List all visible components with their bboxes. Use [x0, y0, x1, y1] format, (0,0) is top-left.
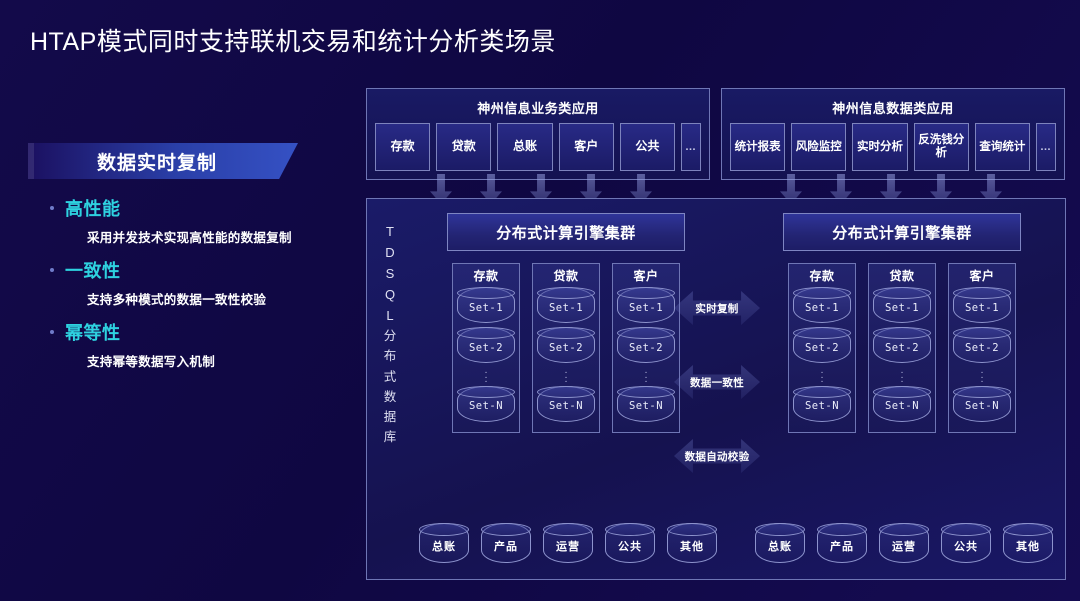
app-chip[interactable]: 公共	[620, 123, 675, 171]
feature-description: 采用并发技术实现高性能的数据复制	[87, 227, 358, 246]
tdsql-label-char: S	[377, 263, 403, 284]
set-cylinder[interactable]: Set-1	[617, 287, 675, 323]
cluster-right: 分布式计算引擎集群 存款 Set-1 Set-2 ... Set-N 贷款 Se…	[747, 213, 1057, 433]
bottom-cylinder[interactable]: 运营	[879, 523, 929, 563]
set-label: Set-1	[885, 302, 919, 314]
set-label: Set-N	[549, 400, 583, 412]
tdsql-label-char: D	[377, 242, 403, 263]
feature-title: 幂等性	[65, 319, 121, 345]
set-column-deposit: 存款 Set-1 Set-2 ... Set-N	[452, 263, 520, 433]
set-column-title: 客户	[969, 267, 994, 284]
feature-item-idempotency: 幂等性 支持幂等数据写入机制	[50, 319, 358, 370]
application-group-title: 神州信息业务类应用	[375, 94, 701, 123]
bottom-cylinder[interactable]: 公共	[605, 523, 655, 563]
set-column-customer: 客户 Set-1 Set-2 ... Set-N	[948, 263, 1016, 433]
app-chip[interactable]: 客户	[559, 123, 614, 171]
vertical-ellipsis: ...	[901, 369, 904, 383]
bottom-cylinder-label: 公共	[618, 538, 642, 554]
bottom-cylinder-label: 其他	[1016, 538, 1040, 554]
section-banner-title: 数据实时复制	[28, 148, 298, 175]
app-chip[interactable]: 统计报表	[730, 123, 785, 171]
set-label: Set-2	[885, 342, 919, 354]
application-group-business: 神州信息业务类应用 存款 贷款 总账 客户 公共 …	[366, 88, 710, 180]
tdsql-label-char: Q	[377, 284, 403, 305]
vertical-ellipsis: ...	[485, 369, 488, 383]
bottom-cylinder-label: 产品	[830, 538, 854, 554]
left-feature-panel: 数据实时复制 高性能 采用并发技术实现高性能的数据复制 一致性 支持多种模式的数…	[28, 143, 358, 381]
set-cylinder[interactable]: Set-2	[953, 327, 1011, 363]
app-chip[interactable]: 反洗钱分析	[914, 123, 969, 171]
set-label: Set-1	[805, 302, 839, 314]
set-column-title: 贷款	[553, 267, 578, 284]
set-label: Set-1	[629, 302, 663, 314]
set-label: Set-2	[965, 342, 999, 354]
app-chip[interactable]: 存款	[375, 123, 430, 171]
tdsql-vertical-label: T D S Q L 分 布 式 数 据 库	[377, 221, 403, 448]
app-chip[interactable]: 实时分析	[852, 123, 907, 171]
vertical-ellipsis: ...	[821, 369, 824, 383]
set-column-title: 存款	[473, 267, 498, 284]
application-chip-list: 存款 贷款 总账 客户 公共 …	[375, 123, 701, 171]
feature-title: 一致性	[65, 257, 121, 283]
feature-item-consistency: 一致性 支持多种模式的数据一致性校验	[50, 257, 358, 308]
section-banner: 数据实时复制	[28, 143, 298, 179]
app-chip[interactable]: 查询统计	[975, 123, 1030, 171]
set-column-loan: 贷款 Set-1 Set-2 ... Set-N	[532, 263, 600, 433]
page-title: HTAP模式同时支持联机交易和统计分析类场景	[30, 22, 556, 58]
bullet-dot-icon	[50, 330, 54, 334]
tdsql-label-char: T	[377, 221, 403, 242]
feature-item-performance: 高性能 采用并发技术实现高性能的数据复制	[50, 195, 358, 246]
set-cylinder[interactable]: Set-2	[793, 327, 851, 363]
vertical-ellipsis: ...	[981, 369, 984, 383]
bottom-cylinder[interactable]: 产品	[481, 523, 531, 563]
tdsql-label-char: L	[377, 305, 403, 326]
sync-arrow-auto-verification: 数据自动校验	[674, 439, 760, 473]
bottom-cylinder[interactable]: 公共	[941, 523, 991, 563]
feature-list: 高性能 采用并发技术实现高性能的数据复制 一致性 支持多种模式的数据一致性校验 …	[28, 195, 358, 370]
set-column-title: 客户	[633, 267, 658, 284]
set-label: Set-2	[549, 342, 583, 354]
app-chip[interactable]: 贷款	[436, 123, 491, 171]
application-group-title: 神州信息数据类应用	[730, 94, 1056, 123]
set-cylinder[interactable]: Set-1	[537, 287, 595, 323]
tdsql-label-char: 据	[377, 407, 403, 427]
set-cylinder[interactable]: Set-1	[953, 287, 1011, 323]
set-column-deposit: 存款 Set-1 Set-2 ... Set-N	[788, 263, 856, 433]
set-cylinder[interactable]: Set-2	[457, 327, 515, 363]
bottom-cylinder-row-left: 总账 产品 运营 公共 其他	[419, 523, 717, 563]
app-chip-more[interactable]: …	[681, 123, 701, 171]
set-label: Set-N	[965, 400, 999, 412]
set-cylinder[interactable]: Set-N	[953, 386, 1011, 422]
tdsql-panel: T D S Q L 分 布 式 数 据 库 分布式计算引擎集群 存款 Set-1…	[366, 198, 1066, 580]
bottom-cylinder-label: 产品	[494, 538, 518, 554]
set-cylinder[interactable]: Set-N	[537, 386, 595, 422]
set-cylinder[interactable]: Set-N	[793, 386, 851, 422]
bottom-cylinder[interactable]: 产品	[817, 523, 867, 563]
bottom-cylinder[interactable]: 其他	[1003, 523, 1053, 563]
set-label: Set-N	[629, 400, 663, 412]
bottom-cylinder[interactable]: 总账	[419, 523, 469, 563]
set-cylinder[interactable]: Set-1	[457, 287, 515, 323]
application-groups: 神州信息业务类应用 存款 贷款 总账 客户 公共 … 神州信息数据类应用 统计报…	[366, 88, 1066, 180]
set-column-loan: 贷款 Set-1 Set-2 ... Set-N	[868, 263, 936, 433]
bottom-cylinder[interactable]: 总账	[755, 523, 805, 563]
tdsql-label-char: 数	[377, 387, 403, 407]
vertical-ellipsis: ...	[645, 369, 648, 383]
set-cylinder[interactable]: Set-2	[873, 327, 931, 363]
set-label: Set-2	[629, 342, 663, 354]
set-label: Set-1	[965, 302, 999, 314]
bottom-cylinder-label: 运营	[892, 538, 916, 554]
feature-description: 支持幂等数据写入机制	[87, 351, 358, 370]
bottom-cylinder[interactable]: 其他	[667, 523, 717, 563]
bottom-cylinder-label: 总账	[432, 538, 456, 554]
set-label: Set-N	[885, 400, 919, 412]
feature-description: 支持多种模式的数据一致性校验	[87, 289, 358, 308]
app-chip-more[interactable]: …	[1036, 123, 1056, 171]
set-cylinder[interactable]: Set-N	[457, 386, 515, 422]
app-chip[interactable]: 总账	[497, 123, 552, 171]
set-label: Set-2	[469, 342, 503, 354]
tdsql-label-char: 库	[377, 427, 403, 447]
feature-title: 高性能	[65, 195, 121, 221]
set-columns: 存款 Set-1 Set-2 ... Set-N 贷款 Set-1 Set-2 …	[747, 263, 1057, 433]
set-column-title: 贷款	[889, 267, 914, 284]
set-label: Set-N	[469, 400, 503, 412]
sync-arrow-label: 数据一致性	[690, 375, 744, 390]
architecture-diagram: 神州信息业务类应用 存款 贷款 总账 客户 公共 … 神州信息数据类应用 统计报…	[366, 88, 1066, 580]
compute-engine-cluster-bar[interactable]: 分布式计算引擎集群	[447, 213, 685, 251]
bottom-cylinder-label: 总账	[768, 538, 792, 554]
set-cylinder[interactable]: Set-N	[617, 386, 675, 422]
bottom-cylinder-row-right: 总账 产品 运营 公共 其他	[755, 523, 1053, 563]
application-chip-list: 统计报表 风险监控 实时分析 反洗钱分析 查询统计 …	[730, 123, 1056, 171]
set-cylinder[interactable]: Set-2	[537, 327, 595, 363]
bullet-dot-icon	[50, 206, 54, 210]
set-column-customer: 客户 Set-1 Set-2 ... Set-N	[612, 263, 680, 433]
vertical-ellipsis: ...	[565, 369, 568, 383]
tdsql-label-char: 式	[377, 367, 403, 387]
set-cylinder[interactable]: Set-1	[873, 287, 931, 323]
set-label: Set-2	[805, 342, 839, 354]
set-cylinder[interactable]: Set-2	[617, 327, 675, 363]
set-label: Set-1	[469, 302, 503, 314]
sync-arrow-label: 实时复制	[695, 301, 738, 316]
bottom-cylinder[interactable]: 运营	[543, 523, 593, 563]
sync-arrow-label: 数据自动校验	[685, 449, 750, 464]
bottom-cylinder-label: 公共	[954, 538, 978, 554]
set-cylinder[interactable]: Set-1	[793, 287, 851, 323]
bullet-dot-icon	[50, 268, 54, 272]
set-label: Set-N	[805, 400, 839, 412]
app-chip[interactable]: 风险监控	[791, 123, 846, 171]
compute-engine-cluster-bar[interactable]: 分布式计算引擎集群	[783, 213, 1021, 251]
bottom-cylinder-label: 其他	[680, 538, 704, 554]
set-cylinder[interactable]: Set-N	[873, 386, 931, 422]
set-label: Set-1	[549, 302, 583, 314]
banner-edge-accent	[28, 143, 34, 179]
bottom-cylinder-label: 运营	[556, 538, 580, 554]
application-group-data: 神州信息数据类应用 统计报表 风险监控 实时分析 反洗钱分析 查询统计 …	[721, 88, 1065, 180]
tdsql-label-char: 分	[377, 326, 403, 346]
set-column-title: 存款	[809, 267, 834, 284]
tdsql-label-char: 布	[377, 346, 403, 366]
